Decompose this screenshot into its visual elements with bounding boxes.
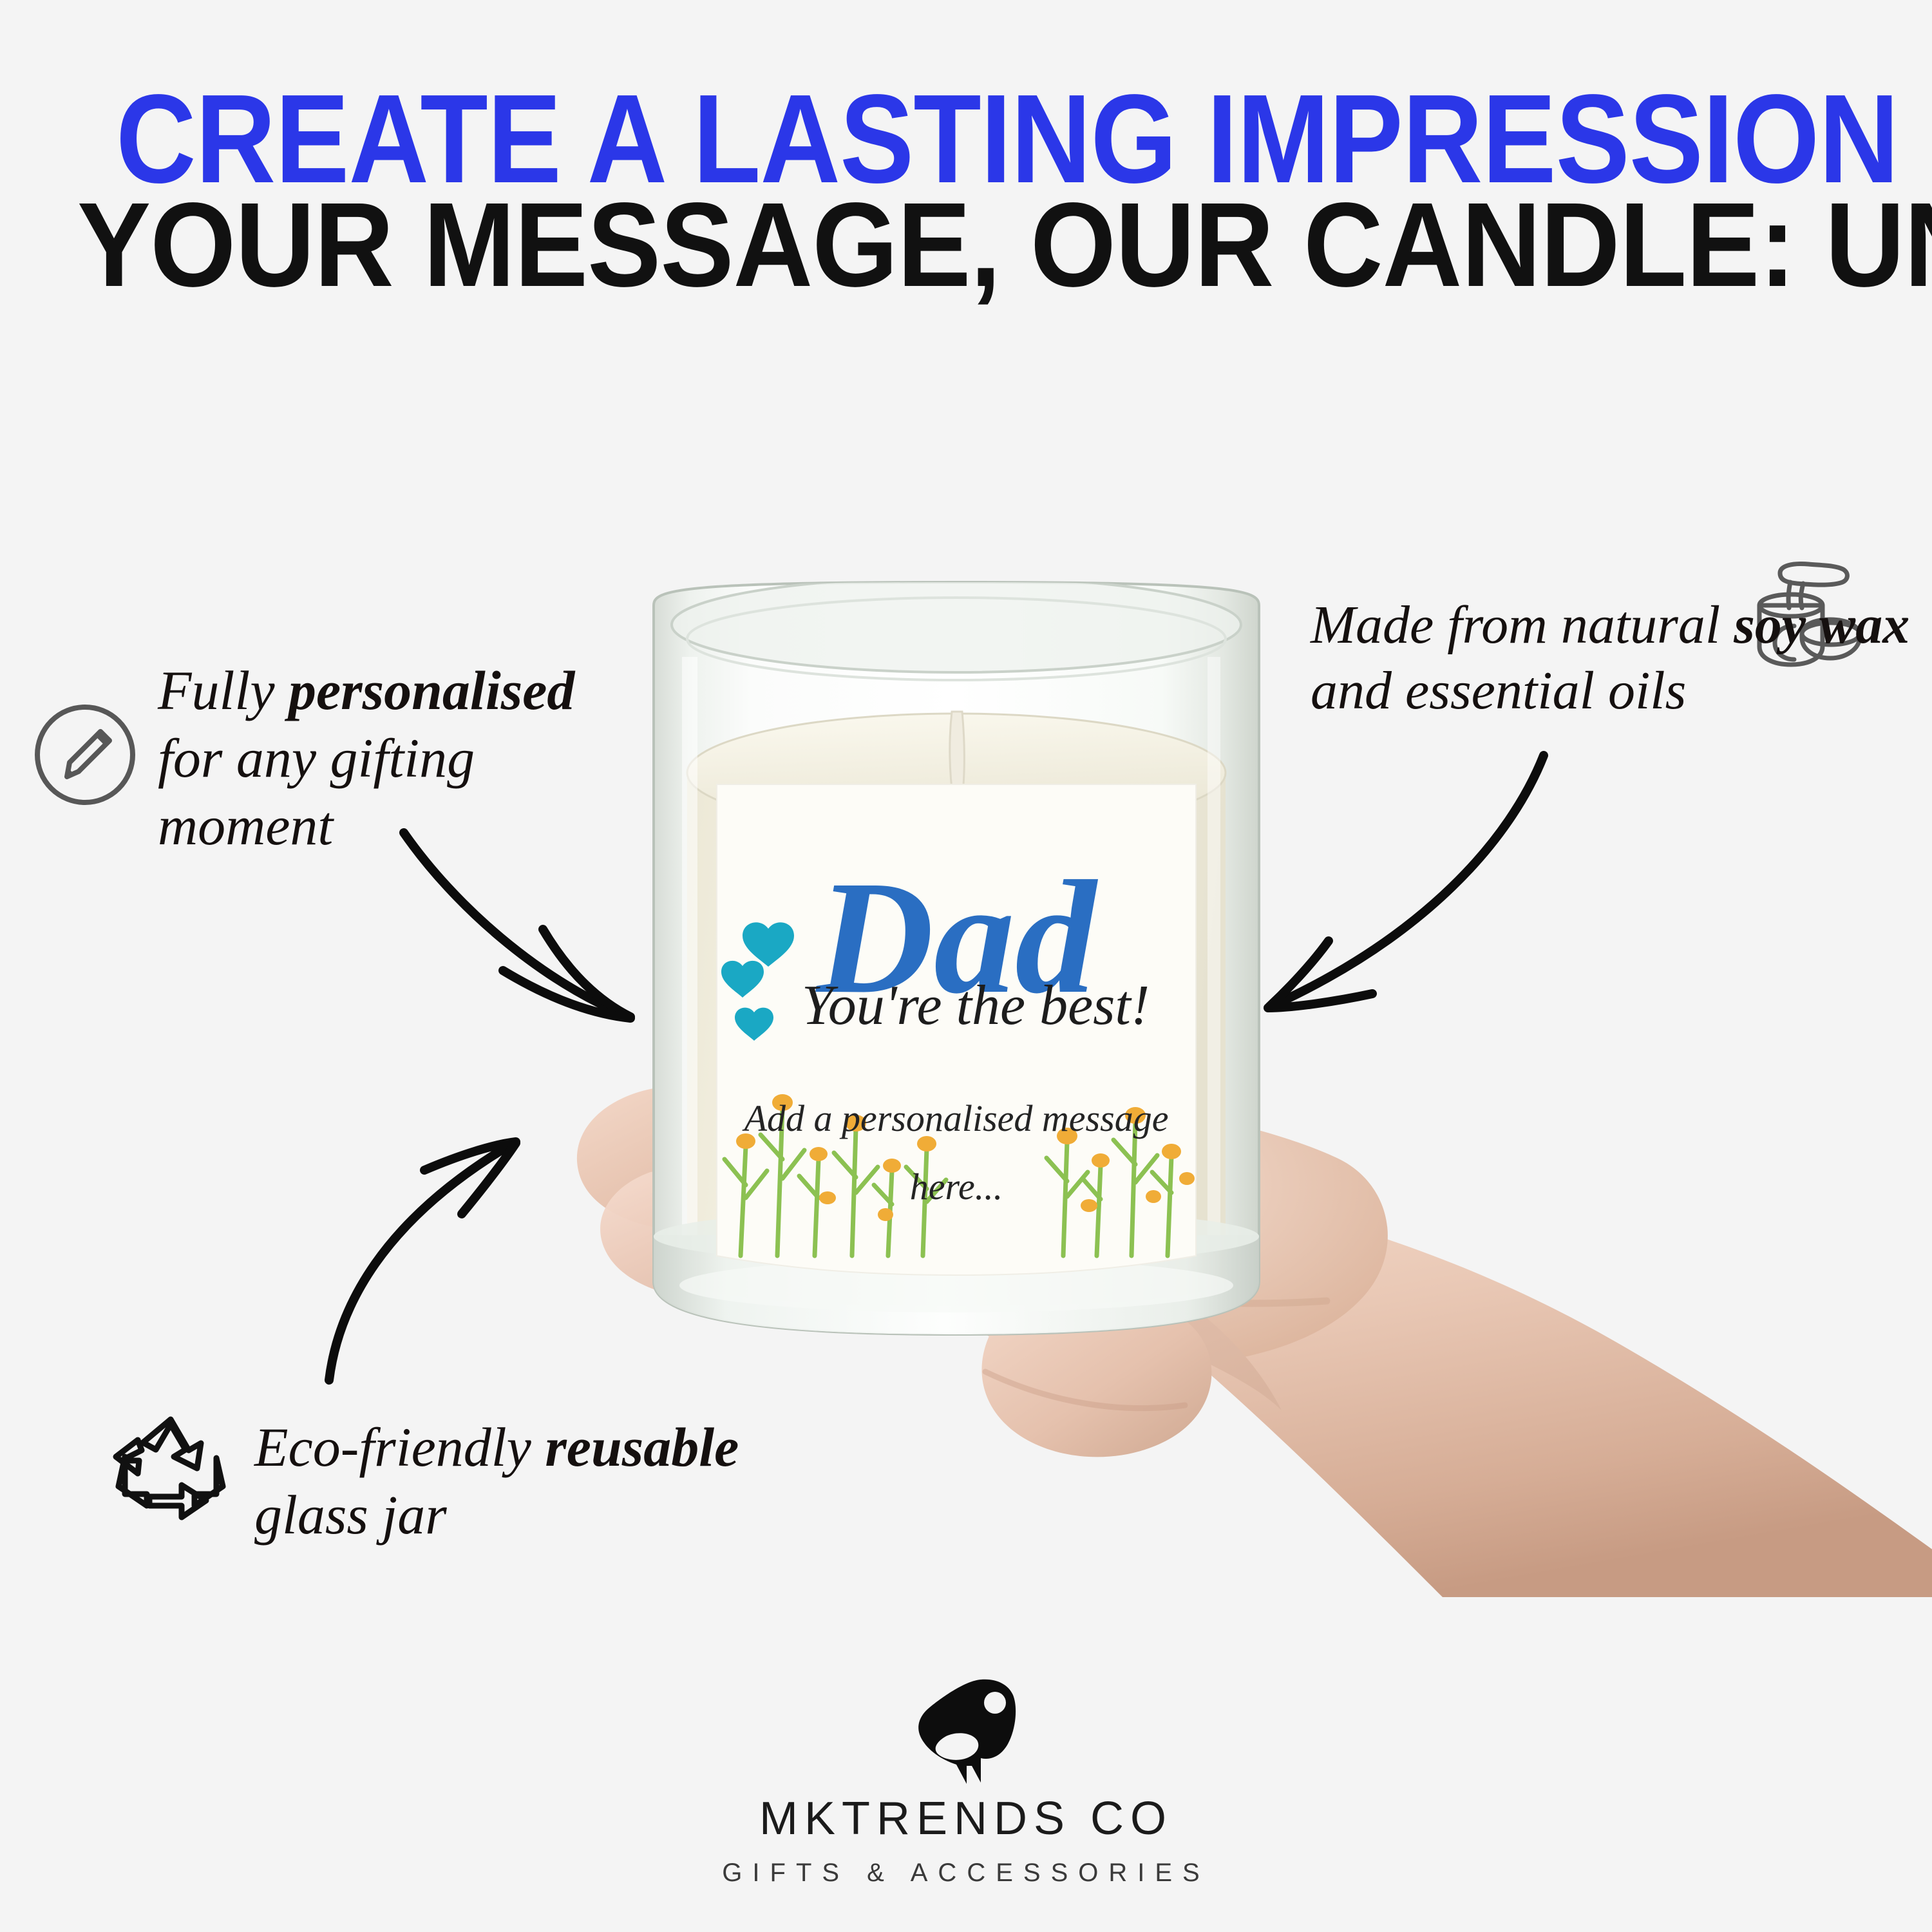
label-message-line1: Add a personalised message bbox=[742, 1097, 1169, 1139]
annotation-personalised-lead: Fully bbox=[158, 659, 289, 721]
brand-tagline: GIFTS & ACCESSORIES bbox=[0, 1860, 1932, 1886]
label-message-line2: here... bbox=[910, 1166, 1003, 1207]
annotation-soy-emphasis: soy wax bbox=[1734, 595, 1909, 655]
price-tag-icon bbox=[905, 1674, 1027, 1784]
brand-name: MKTRENDS CO bbox=[0, 1795, 1932, 1842]
curved-arrow-to-label-left bbox=[370, 828, 699, 1079]
annotation-soy-lead: Made from natural bbox=[1311, 595, 1734, 655]
candle-product: Dad You're the best! bbox=[628, 580, 1285, 1346]
annotation-eco-glass: Eco-friendly reusable glass jar bbox=[254, 1414, 808, 1549]
label-subtitle: You're the best! bbox=[802, 974, 1150, 1037]
annotation-personalised-emphasis: personalised bbox=[289, 659, 574, 721]
candle-label: Dad You're the best! bbox=[717, 784, 1196, 1275]
annotation-eco-lead: Eco-friendly bbox=[254, 1416, 545, 1478]
annotation-soy-wax: Made from natural soy wax and essential … bbox=[1311, 592, 1916, 724]
brand-lockup: MKTRENDS CO GIFTS & ACCESSORIES bbox=[0, 1674, 1932, 1886]
annotation-personalised: Fully personalised for any gifting momen… bbox=[158, 657, 609, 860]
pencil-in-circle-icon bbox=[31, 701, 139, 809]
recycling-icon bbox=[109, 1409, 232, 1531]
banner-canvas: CREATE A LASTING IMPRESSION YOUR MESSAGE… bbox=[0, 0, 1932, 1932]
headline-secondary: YOUR MESSAGE, OUR CANDLE: UNIQUELY YOURS bbox=[77, 185, 1855, 305]
annotation-eco-emphasis: reusable bbox=[545, 1416, 739, 1478]
annotation-eco-tail: glass jar bbox=[254, 1484, 447, 1546]
annotation-personalised-tail: for any gifting moment bbox=[158, 727, 475, 857]
curved-arrow-to-label-right bbox=[1253, 718, 1600, 1053]
annotation-soy-tail: and essential oils bbox=[1311, 661, 1686, 721]
